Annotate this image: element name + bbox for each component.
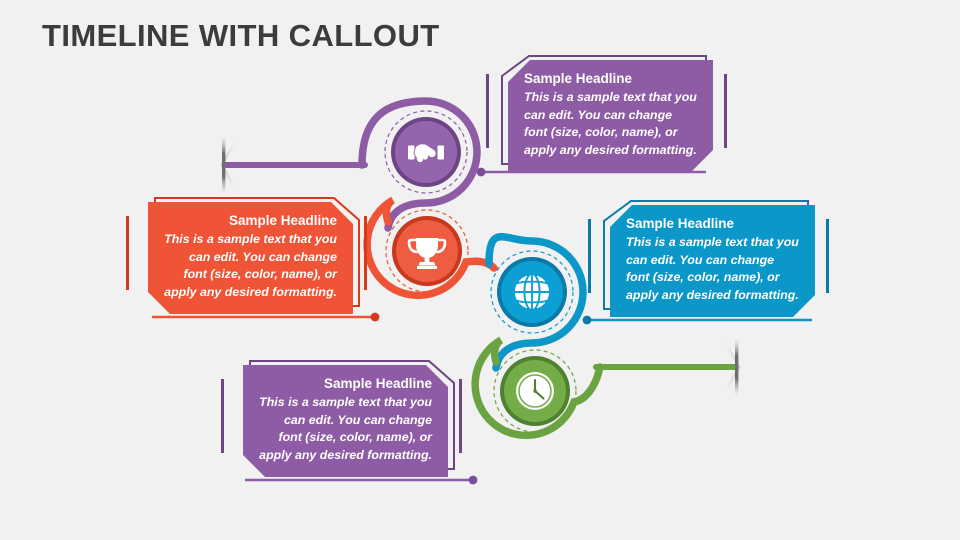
callout-headline: Sample Headline xyxy=(524,70,697,88)
callout-text: This is a sample text that you can edit.… xyxy=(259,394,432,464)
callout-body: Sample Headline This is a sample text th… xyxy=(148,202,353,314)
callout-right[interactable]: Sample Headline This is a sample text th… xyxy=(610,205,815,317)
callout-right-tick xyxy=(364,216,367,290)
callout-left-tick xyxy=(221,379,224,453)
connector-green-right xyxy=(596,338,739,396)
clock-icon xyxy=(516,372,554,410)
callout-headline: Sample Headline xyxy=(626,215,799,233)
globe-icon xyxy=(514,274,550,310)
callout-left[interactable]: Sample Headline This is a sample text th… xyxy=(148,202,353,314)
callout-body: Sample Headline This is a sample text th… xyxy=(243,365,448,477)
callout-left-tick xyxy=(126,216,129,290)
callout-body: Sample Headline This is a sample text th… xyxy=(610,205,815,317)
slide-canvas: TIMELINE WITH CALLOUT xyxy=(0,0,960,540)
callout-left-tick xyxy=(588,219,591,293)
callout-top-right[interactable]: Sample Headline This is a sample text th… xyxy=(508,60,713,172)
callout-right-tick xyxy=(459,379,462,453)
node-trophy[interactable] xyxy=(386,210,468,292)
callout-bottom[interactable]: Sample Headline This is a sample text th… xyxy=(243,365,448,477)
callout-headline: Sample Headline xyxy=(259,375,432,393)
callout-text: This is a sample text that you can edit.… xyxy=(164,231,337,301)
callout-text: This is a sample text that you can edit.… xyxy=(626,234,799,304)
callout-right-tick xyxy=(724,74,727,148)
node-handshake[interactable] xyxy=(385,111,467,193)
node-globe[interactable] xyxy=(491,251,573,333)
node-clock[interactable] xyxy=(494,350,576,432)
diagram-graphics xyxy=(0,0,960,540)
callout-right-tick xyxy=(826,219,829,293)
callout-left-tick xyxy=(486,74,489,148)
callout-text: This is a sample text that you can edit.… xyxy=(524,89,697,159)
callout-headline: Sample Headline xyxy=(164,212,337,230)
connector-purple-left xyxy=(222,136,365,194)
callout-body: Sample Headline This is a sample text th… xyxy=(508,60,713,172)
